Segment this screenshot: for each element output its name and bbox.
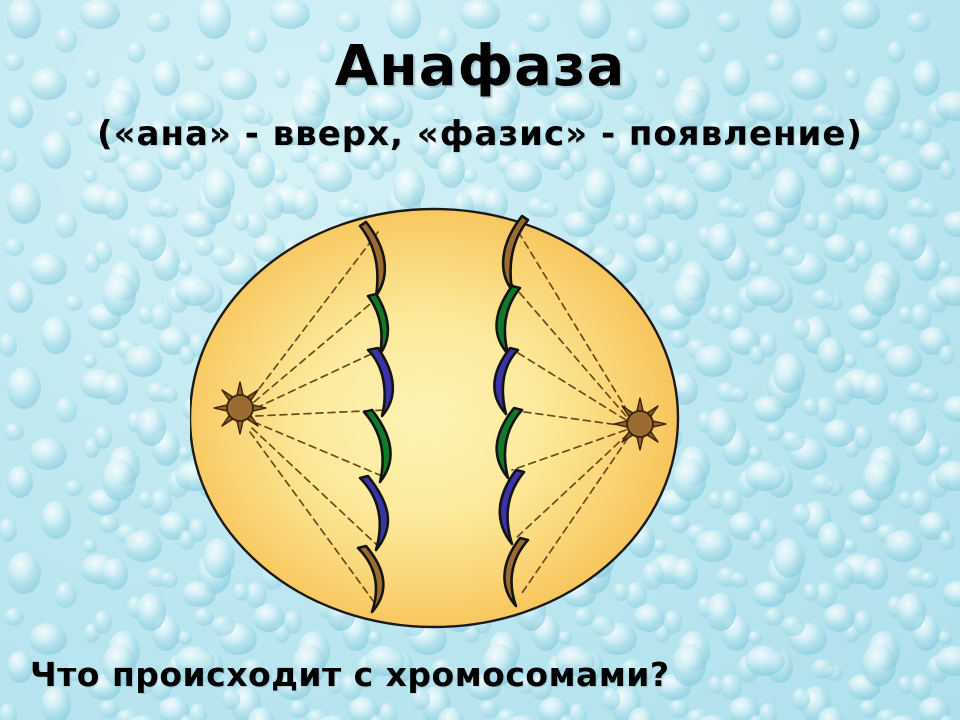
anaphase-cell-diagram [190,198,700,638]
centrosome-right-core [627,411,653,437]
slide-question: Что происходит с хромосомами? [30,655,670,694]
slide: Анафаза («ана» - вверх, «фазис» - появле… [0,0,960,720]
centrosome-left-core [227,395,253,421]
centrosome-left [214,382,266,434]
slide-title: Анафаза [0,34,960,99]
cell-membrane [190,209,678,627]
slide-subtitle: («ана» - вверх, «фазис» - появление) [0,114,960,154]
centrosome-right [614,398,666,450]
